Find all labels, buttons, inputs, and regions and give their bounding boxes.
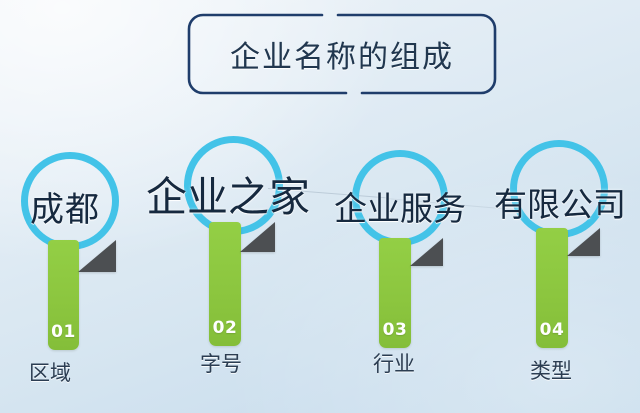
bar-03: 03 [379, 238, 411, 348]
step-number-03: 03 [379, 320, 411, 340]
step-number-04: 04 [536, 320, 568, 340]
slide-canvas: 企业名称的组成 01 成都 区域 02 企业之家 字号 03 企业服务 行业 0… [0, 0, 640, 413]
wedge-icon-02 [240, 222, 275, 252]
step-number-01: 01 [48, 322, 79, 342]
bar-01: 01 [48, 240, 79, 350]
caption-02: 字号 [200, 348, 242, 378]
wedge-icon-03 [410, 238, 443, 266]
step-item-01[interactable]: 01 成都 区域 [0, 0, 160, 413]
wedge-icon-04 [567, 228, 600, 256]
headline-03: 企业服务 [334, 182, 466, 230]
step-item-03[interactable]: 03 企业服务 行业 [330, 0, 500, 413]
caption-01: 区域 [29, 357, 71, 387]
caption-03: 行业 [373, 348, 415, 378]
headline-04: 有限公司 [494, 178, 626, 226]
bar-04: 04 [536, 228, 568, 348]
headline-01: 成都 [30, 182, 100, 231]
headline-02: 企业之家 [146, 163, 310, 223]
wedge-icon-01 [78, 240, 116, 272]
caption-04: 类型 [530, 355, 572, 385]
step-number-02: 02 [209, 318, 241, 338]
step-item-02[interactable]: 02 企业之家 字号 [150, 0, 320, 413]
step-item-04[interactable]: 04 有限公司 类型 [495, 0, 640, 413]
bar-02: 02 [209, 222, 241, 346]
